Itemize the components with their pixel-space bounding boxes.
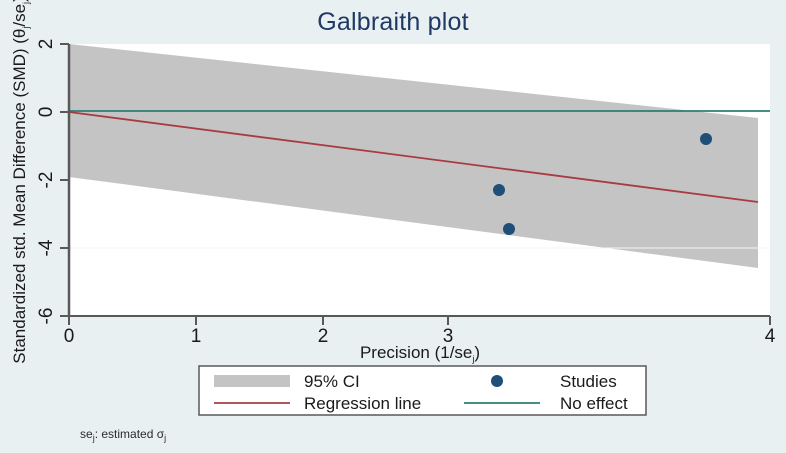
x-tick-label: 1 [191,326,202,347]
y-tick-label: 0 [36,107,57,118]
y-tick-label: -6 [36,308,57,325]
x-tick-label: 2 [318,326,329,347]
galbraith-plot-figure: Galbraith plot 2 0 [0,0,786,453]
y-tick-label: 2 [36,39,57,50]
legend-label-noeffect: No effect [560,394,628,413]
x-tick-label: 0 [64,326,75,347]
y-tick-label: -4 [36,239,57,256]
x-tick-label: 4 [765,326,776,347]
x-axis-title: Precision (1/sej) [360,343,480,364]
legend-label-regression: Regression line [304,394,421,413]
study-data-point[interactable] [503,223,515,235]
legend-swatch-ci [214,375,290,387]
chart-canvas: 2 0 -2 -4 -6 0 1 2 3 4 Standardized std.… [0,0,786,453]
legend-label-studies: Studies [560,372,617,391]
study-data-point[interactable] [700,133,712,145]
study-data-point[interactable] [493,184,505,196]
y-axis-title: Standardized std. Mean Difference (SMD) … [10,0,31,364]
y-tick-label: -2 [36,172,57,189]
legend-label-ci: 95% CI [304,372,360,391]
footnote-note: sej: estimated σj [80,427,166,443]
legend-marker-studies [491,375,503,387]
